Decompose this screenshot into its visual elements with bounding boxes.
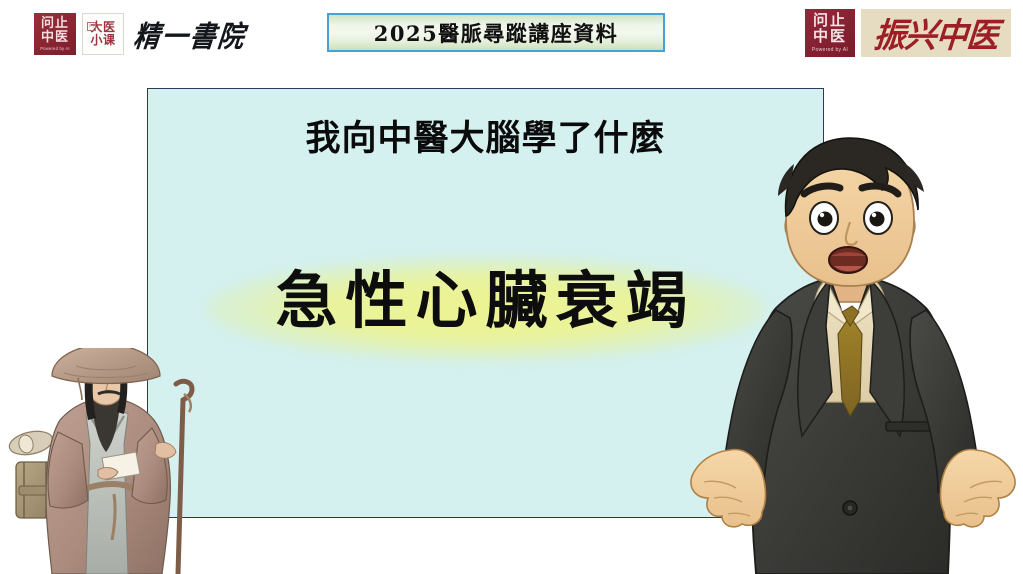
dayi-logo-mark: 问 (87, 22, 96, 31)
lecture-series-banner-title: 2025醫脈尋蹤講座資料 (374, 18, 618, 48)
brand-left-group: 问止 中医 Powered by AI 问 大医 小课 精一書院 (34, 11, 246, 57)
ancient-physician-illustration (6, 348, 216, 574)
lecture-series-banner: 2025醫脈尋蹤講座資料 (327, 13, 665, 52)
businessman-left-hand (691, 450, 766, 527)
dayi-logo-line2: 小课 (90, 34, 115, 47)
wenzhi-logo-line2: 中医 (41, 31, 69, 44)
wenzhi-right-logo-tagline: Powered by AI (812, 48, 848, 53)
wenzhi-right-logo-line2: 中医 (813, 29, 847, 45)
sage-left-sleeve (48, 432, 88, 508)
businessman-right-hand (941, 450, 1016, 527)
brand-right-group: 问止 中医 Powered by AI 振兴中医 (805, 9, 1011, 57)
wenzhi-tcm-logo-right: 问止 中医 Powered by AI (805, 9, 855, 57)
wenzhi-tcm-logo-left: 问止 中医 Powered by AI (34, 13, 76, 55)
wenzhi-logo-line1: 问止 (41, 17, 69, 30)
jingyi-academy-calligraphy: 精一書院 (132, 13, 248, 54)
wenzhi-logo-tagline: Powered by AI (40, 47, 70, 51)
dayi-xiaoke-logo: 问 大医 小课 (82, 13, 124, 55)
sage-walking-staff (176, 381, 192, 574)
sage-right-hand (155, 442, 176, 458)
surprised-businessman-illustration (690, 130, 1023, 574)
zhenxing-tcm-logo: 振兴中医 (861, 9, 1011, 57)
slide-root: 问止 中医 Powered by AI 问 大医 小课 精一書院 2025醫脈尋… (0, 0, 1023, 574)
zhenxing-tcm-logo-text: 振兴中医 (872, 9, 1000, 58)
